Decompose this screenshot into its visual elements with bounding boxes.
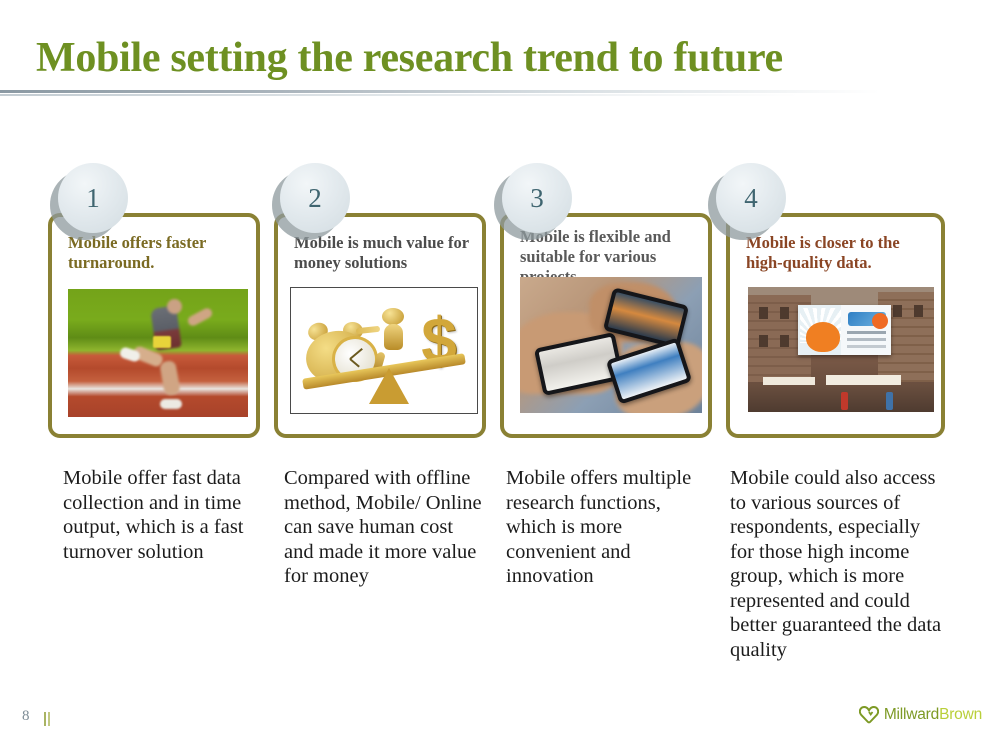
card-3: Mobile is flexible and suitable for vari… bbox=[500, 213, 712, 438]
step-circle-1: 1 bbox=[50, 163, 124, 237]
step-circle-4-face: 4 bbox=[716, 163, 786, 233]
logo-text-millward: Millward bbox=[884, 706, 939, 723]
step-circle-2: 2 bbox=[272, 163, 346, 237]
step-circle-2-face: 2 bbox=[280, 163, 350, 233]
slide-canvas: Mobile setting the research trend to fut… bbox=[0, 0, 1000, 735]
step-circle-4-number: 4 bbox=[744, 185, 758, 212]
card-4-description: Mobile could also access to various sour… bbox=[730, 466, 945, 662]
step-circle-3: 3 bbox=[494, 163, 568, 237]
gold-clock-dollar-seesaw-photo: $ bbox=[290, 287, 478, 414]
card-1-heading: Mobile offers faster turnaround. bbox=[68, 233, 246, 273]
runner-on-track-photo bbox=[68, 289, 248, 417]
step-circle-3-face: 3 bbox=[502, 163, 572, 233]
card-2-heading: Mobile is much value for money solutions bbox=[294, 233, 472, 273]
step-circle-3-number: 3 bbox=[530, 185, 544, 212]
step-circle-1-number: 1 bbox=[86, 185, 100, 212]
title-divider-secondary bbox=[0, 94, 1000, 96]
city-billboard-photo bbox=[748, 287, 934, 412]
card-2: Mobile is much value for money solutions… bbox=[274, 213, 486, 438]
step-circle-4: 4 bbox=[708, 163, 782, 237]
page-number: 8 bbox=[22, 708, 30, 725]
card-1: Mobile offers faster turnaround. bbox=[48, 213, 260, 438]
card-4-heading: Mobile is closer to the high-quality dat… bbox=[746, 233, 931, 273]
card-4: Mobile is closer to the high-quality dat… bbox=[726, 213, 945, 438]
card-1-description: Mobile offer fast data collection and in… bbox=[63, 466, 261, 564]
cards-row: Mobile offers faster turnaround. Mobile … bbox=[48, 213, 948, 438]
page-title: Mobile setting the research trend to fut… bbox=[36, 33, 783, 83]
title-divider bbox=[0, 90, 1000, 93]
logo-text-brown: Brown bbox=[939, 706, 982, 723]
page-number-tick-icon bbox=[44, 712, 52, 726]
step-circle-2-number: 2 bbox=[308, 185, 322, 212]
card-2-description: Compared with offline method, Mobile/ On… bbox=[284, 466, 484, 589]
card-3-description: Mobile offers multiple research function… bbox=[506, 466, 711, 589]
step-circle-1-face: 1 bbox=[58, 163, 128, 233]
millward-brown-logo: MillwardBrown bbox=[859, 706, 982, 724]
hands-holding-smartphones-photo bbox=[520, 277, 702, 413]
heart-logo-icon bbox=[859, 706, 879, 724]
logo-wordmark: MillwardBrown bbox=[884, 706, 982, 724]
